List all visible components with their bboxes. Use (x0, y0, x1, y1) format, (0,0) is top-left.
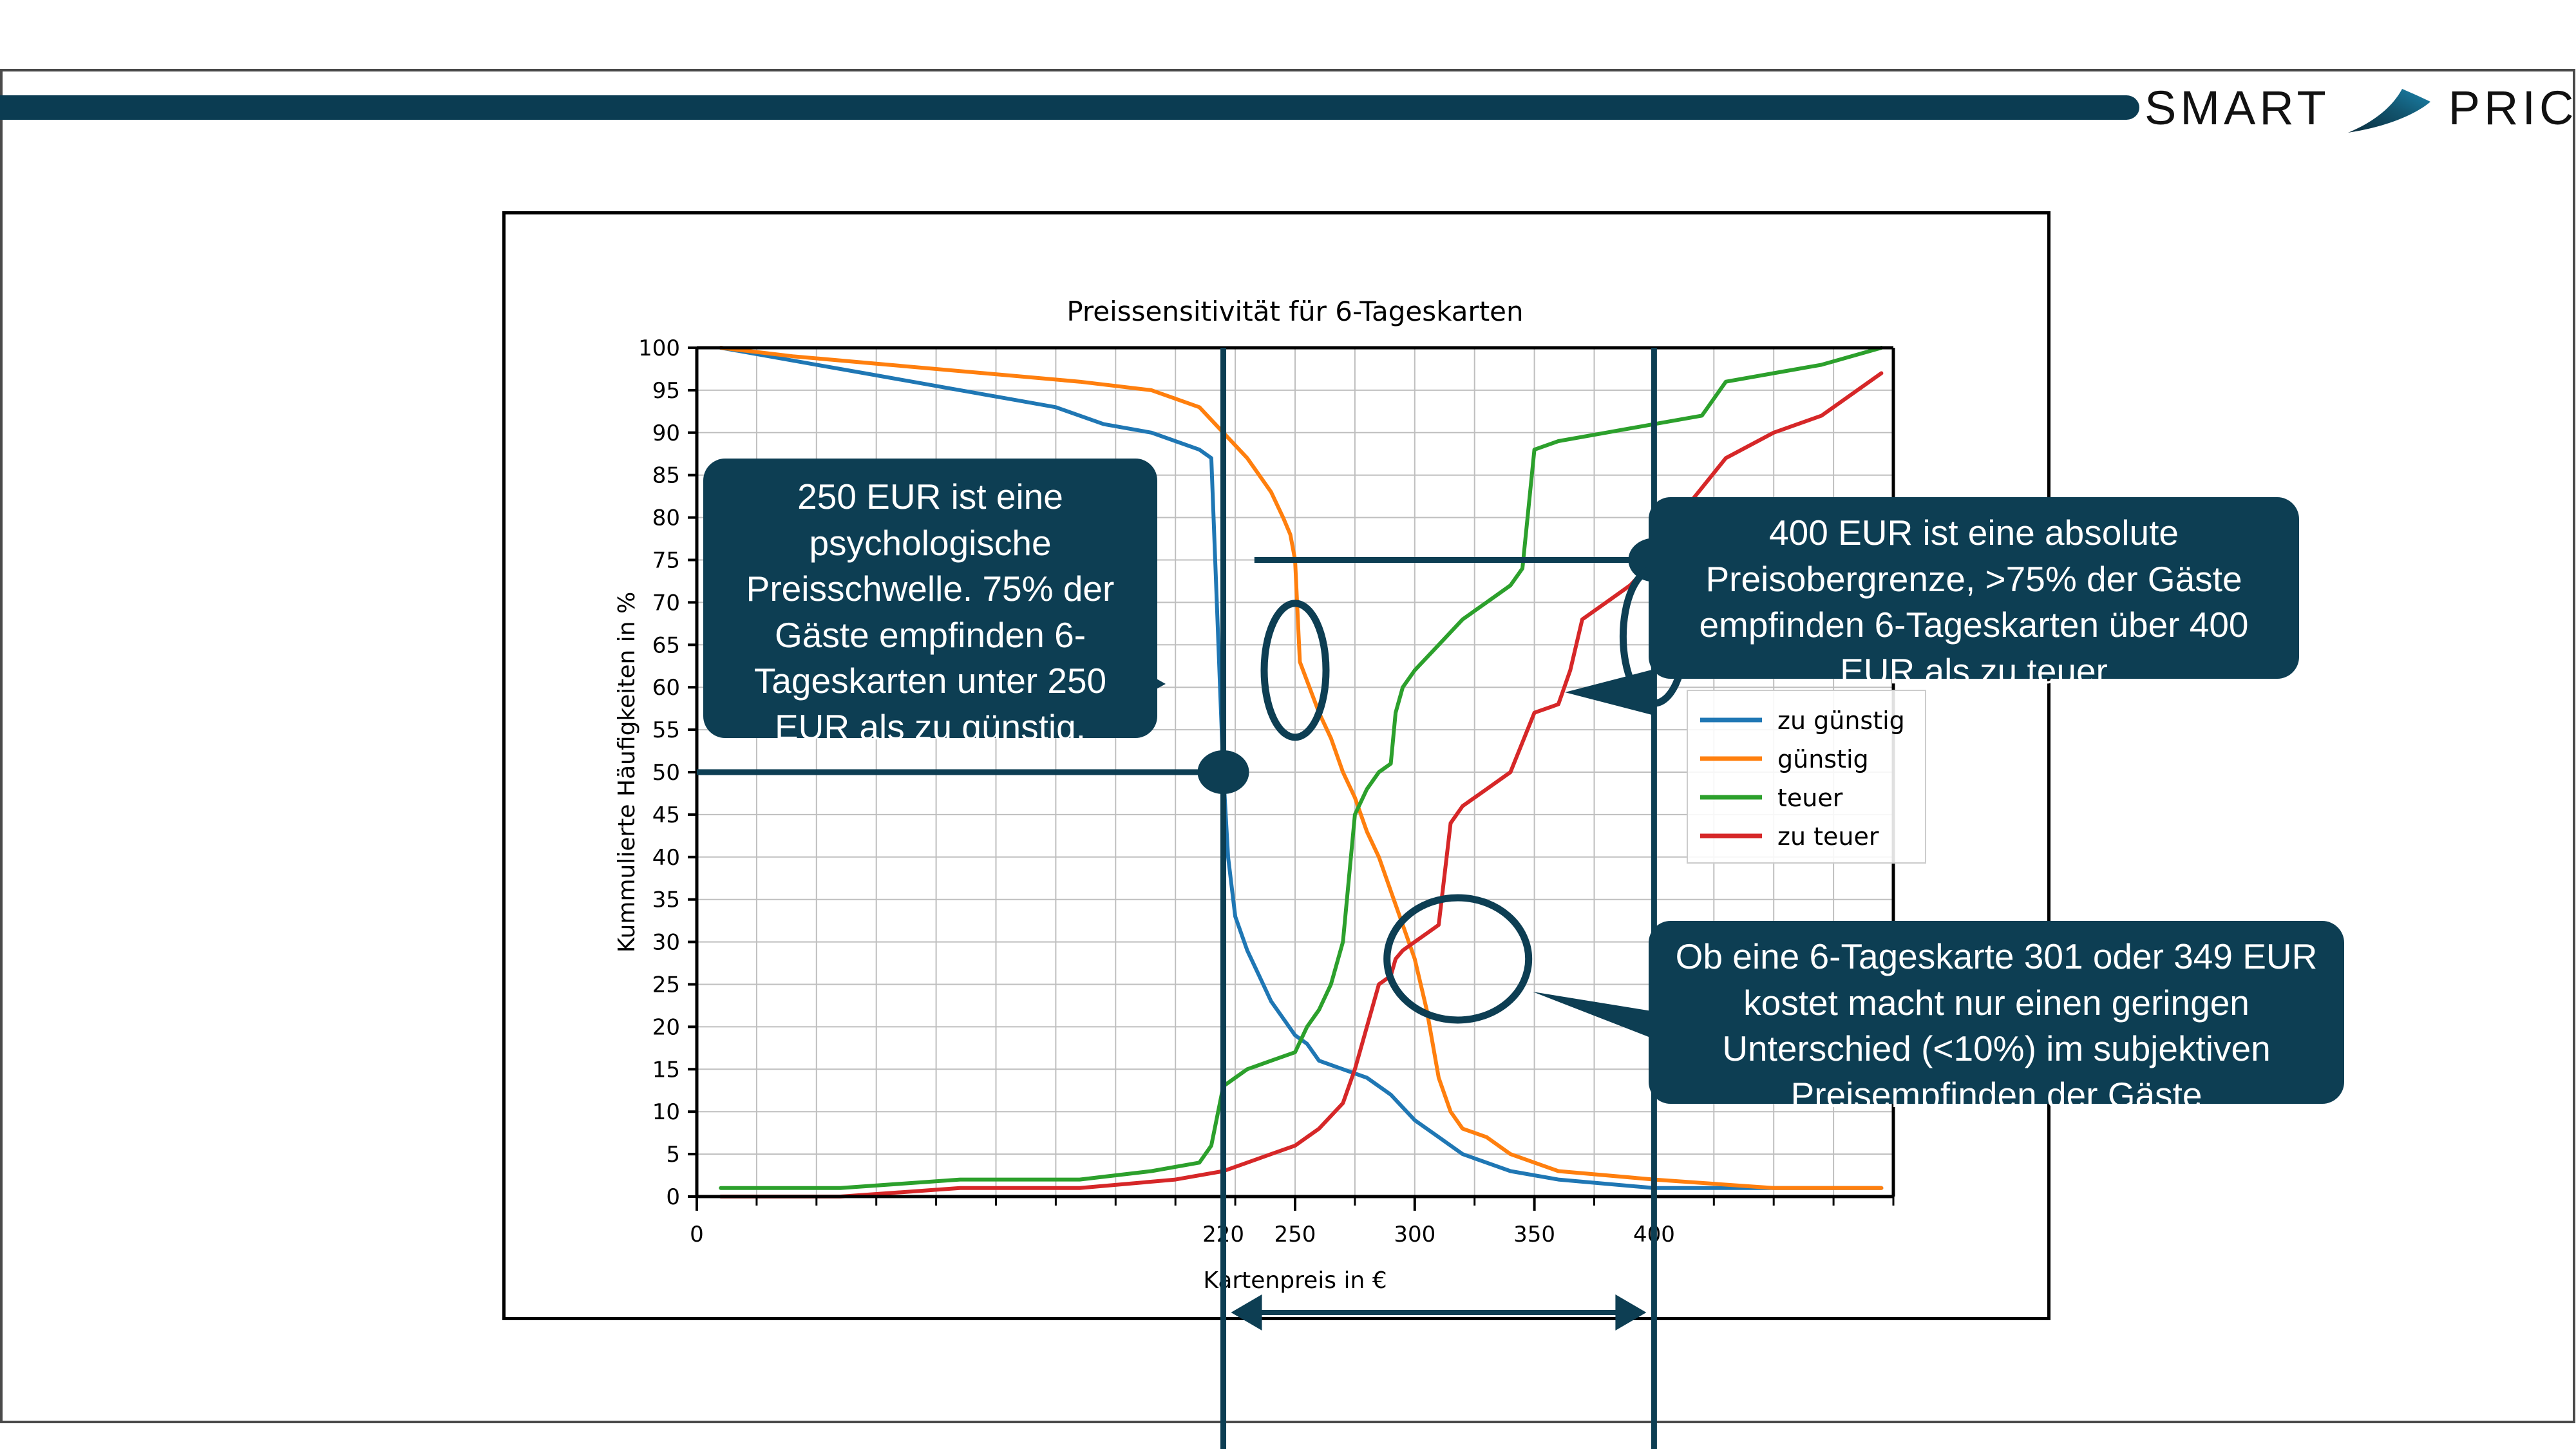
brand-accent-bar (0, 95, 2125, 120)
callout-400-eur: 400 EUR ist eine absolute Preisobergrenz… (1649, 497, 2299, 679)
callout-301-349-eur: Ob eine 6-Tageskarte 301 oder 349 EUR ko… (1649, 921, 2344, 1104)
logo-word-pricer: PRICER (2448, 84, 2576, 132)
content-frame (502, 211, 2050, 1320)
swoosh-icon (2347, 82, 2432, 134)
smart-pricer-logo: SMART PRICER (2145, 79, 2576, 138)
logo-word-smart: SMART (2145, 84, 2330, 132)
callout-250-eur: 250 EUR ist eine psychologische Preissch… (703, 459, 1157, 738)
